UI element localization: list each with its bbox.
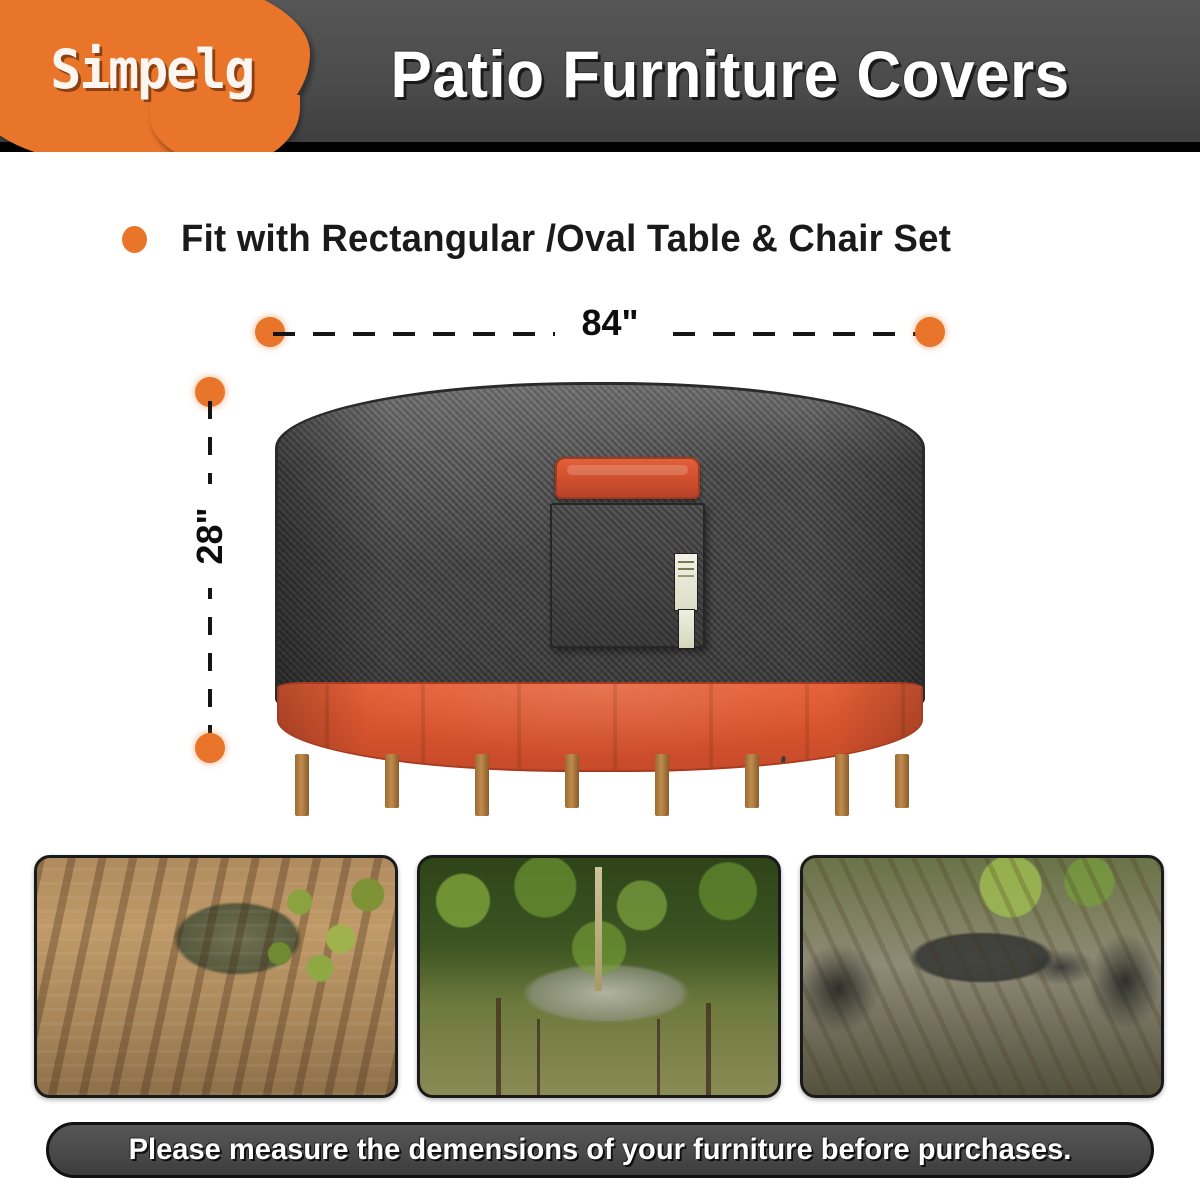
page-title: Patio Furniture Covers (326, 24, 1134, 124)
photo-garden-oval-table-umbrella (417, 855, 781, 1098)
furniture-leg (475, 754, 489, 816)
brand-logo-text: Simpelg (50, 38, 253, 101)
photo-wooden-deck-patio-set (34, 855, 398, 1098)
furniture-leg (295, 754, 309, 816)
footer-notice-text: Please measure the demensions of your fu… (129, 1133, 1072, 1167)
care-label-tag-icon (674, 553, 698, 611)
dimension-endpoint-dot-right-icon (915, 317, 945, 347)
furniture-leg (385, 754, 399, 808)
cover-left-shadow (278, 385, 388, 709)
photo-stone-patio-iron-set (800, 855, 1164, 1098)
feature-bullet-row: Fit with Rectangular /Oval Table & Chair… (122, 213, 1122, 265)
cover-right-shadow (812, 385, 922, 709)
furniture-leg (835, 754, 849, 816)
care-label-tag-secondary-icon (678, 609, 695, 649)
width-dimension-line: 84" (255, 325, 945, 343)
furniture-leg (895, 754, 909, 808)
dimension-endpoint-dot-bottom-icon (195, 733, 225, 763)
furniture-legs-group (295, 754, 915, 822)
feature-bullet-text: Fit with Rectangular /Oval Table & Chair… (181, 218, 951, 261)
furniture-leg (565, 754, 579, 808)
furniture-leg (745, 754, 759, 808)
height-dimension-label: 28" (189, 484, 231, 588)
gallery-photo-row (34, 855, 1166, 1098)
cover-storage-pocket (550, 503, 705, 648)
bullet-dot-icon (122, 226, 147, 253)
footer-notice-pill: Please measure the demensions of your fu… (46, 1122, 1154, 1178)
header-banner: Simpelg Patio Furniture Covers (0, 0, 1200, 152)
cover-carry-handle (555, 457, 700, 499)
product-cover-image (265, 382, 935, 822)
furniture-leg (655, 754, 669, 816)
cover-top-section (275, 382, 925, 712)
width-dimension-label: 84" (555, 302, 665, 344)
height-dimension-line: 28" (200, 385, 220, 755)
brand-logo-blob-tail (150, 95, 300, 152)
